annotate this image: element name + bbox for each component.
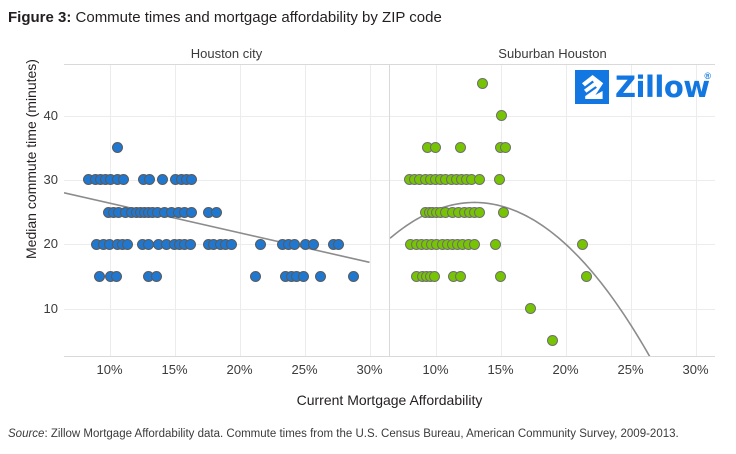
scatter-point	[577, 239, 588, 250]
scatter-point	[255, 239, 266, 250]
scatter-point	[308, 239, 319, 250]
scatter-point	[333, 239, 344, 250]
scatter-point	[143, 239, 154, 250]
scatter-point	[455, 271, 466, 282]
plot-frame-line	[390, 356, 715, 357]
scatter-point	[474, 207, 485, 218]
scatter-point	[495, 271, 506, 282]
x-tick-label: 15%	[151, 362, 199, 377]
scatter-point	[185, 239, 196, 250]
scatter-point	[315, 271, 326, 282]
scatter-point	[490, 239, 501, 250]
plot-frame-line	[64, 356, 389, 357]
scatter-point	[498, 207, 509, 218]
y-tick-label: 10	[12, 301, 58, 316]
scatter-point	[289, 239, 300, 250]
figure-root: Figure 3: Commute times and mortgage aff…	[0, 0, 736, 454]
x-tick-label: 20%	[542, 362, 590, 377]
panel-title-houston-city: Houston city	[64, 46, 389, 61]
scatter-point	[429, 271, 440, 282]
scatter-point	[122, 239, 133, 250]
scatter-point	[211, 207, 222, 218]
x-tick-label: 10%	[86, 362, 134, 377]
x-tick-label: 30%	[672, 362, 720, 377]
panel-title-suburban-houston: Suburban Houston	[390, 46, 715, 61]
scatter-point	[111, 271, 122, 282]
scatter-point	[469, 239, 480, 250]
x-tick-label: 10%	[412, 362, 460, 377]
x-tick-label: 20%	[216, 362, 264, 377]
figure-label: Figure 3:	[8, 9, 71, 26]
plot-frame-line	[64, 64, 389, 65]
source-text: : Zillow Mortgage Affordability data. Co…	[44, 428, 678, 440]
plot-frame-line	[390, 64, 715, 65]
x-tick-label: 15%	[477, 362, 525, 377]
x-tick-label: 25%	[607, 362, 655, 377]
scatter-panel-houston-city	[64, 64, 389, 357]
scatter-point	[581, 271, 592, 282]
scatter-point	[455, 142, 466, 153]
x-tick-label: 25%	[281, 362, 329, 377]
figure-title-text: Commute times and mortgage affordability…	[76, 9, 442, 26]
scatter-point	[250, 271, 261, 282]
y-axis-title: Median commute time (minutes)	[23, 24, 39, 294]
scatter-point	[226, 239, 237, 250]
registered-trademark-icon: ®	[704, 71, 711, 81]
zillow-wordmark: Zillow	[615, 68, 710, 106]
zillow-mark-icon	[575, 70, 609, 104]
source-prefix: Source	[8, 428, 44, 440]
scatter-point	[298, 271, 309, 282]
scatter-point	[151, 271, 162, 282]
scatter-panel-suburban-houston	[390, 64, 715, 357]
scatter-point	[112, 142, 123, 153]
scatter-point	[477, 78, 488, 89]
scatter-point	[94, 271, 105, 282]
source-note: Source: Zillow Mortgage Affordability da…	[8, 428, 679, 440]
scatter-point	[186, 207, 197, 218]
x-axis-title: Current Mortgage Affordability	[64, 392, 715, 408]
figure-title: Figure 3: Commute times and mortgage aff…	[8, 8, 442, 27]
x-tick-label: 30%	[346, 362, 394, 377]
zillow-logo: Zillow ®	[575, 68, 710, 106]
panel-divider	[389, 64, 390, 357]
